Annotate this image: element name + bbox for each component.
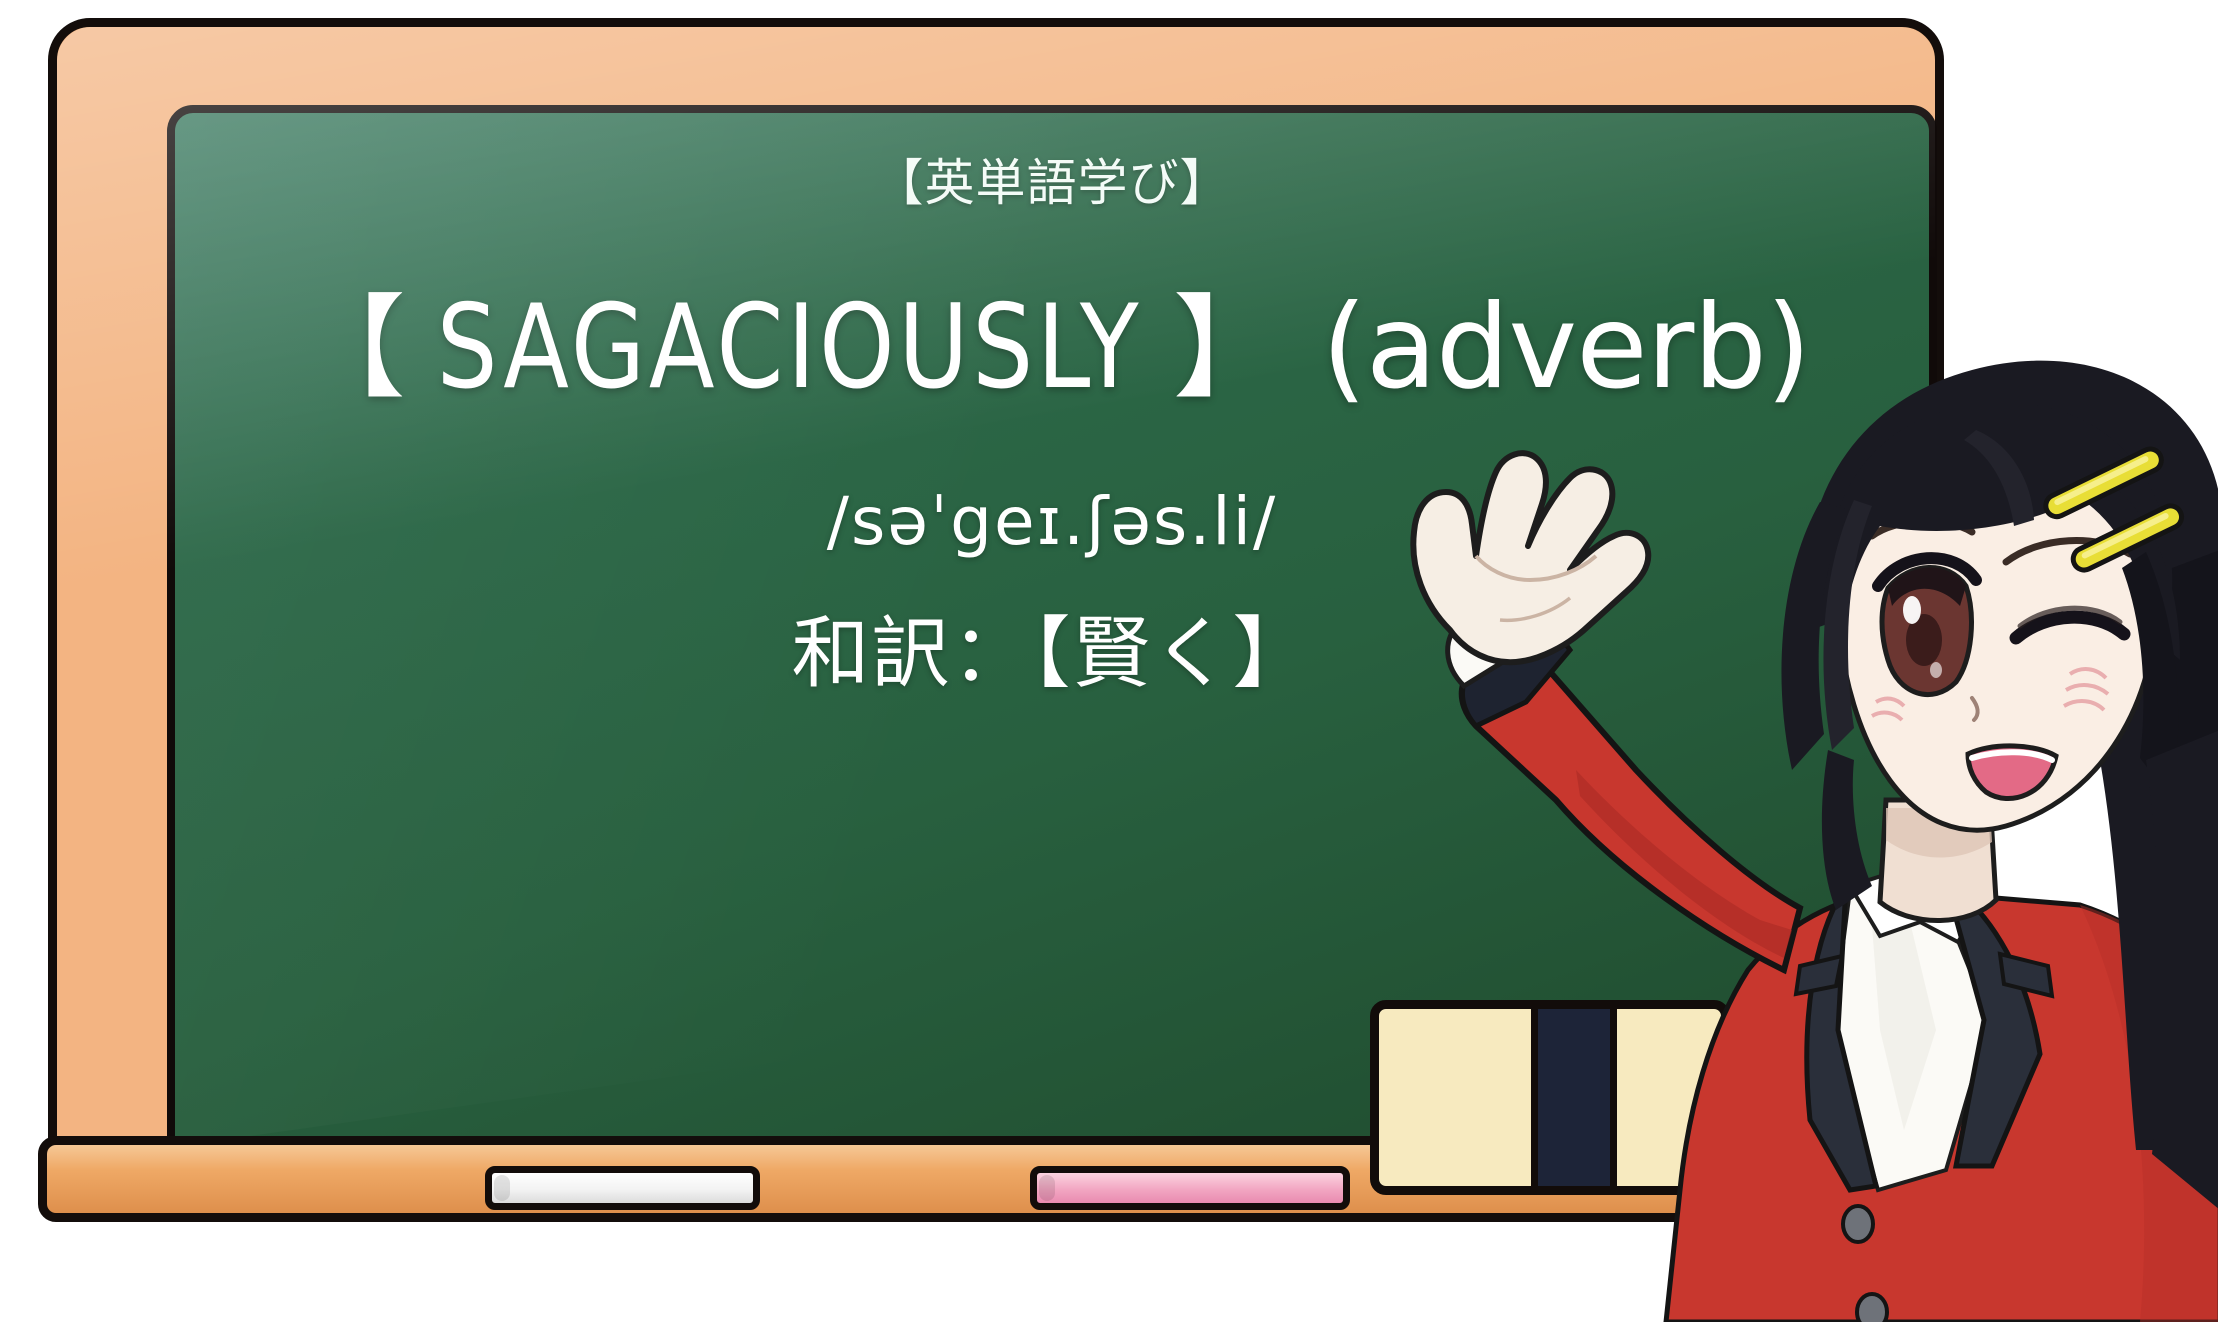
- part-of-speech: (adverb): [1322, 280, 1811, 415]
- headword: SAGACIOUSLY: [437, 283, 1143, 413]
- headline-label: 【英単語学び】: [175, 143, 1929, 215]
- flashcard-canvas: 【英単語学び】 【SAGACIOUSLY】 (adverb) /səˈgeɪ.ʃ…: [0, 0, 2218, 1322]
- winking-eye: [2006, 541, 2130, 638]
- eraser-band: [1531, 1005, 1617, 1195]
- headword-line: 【SAGACIOUSLY】 (adverb): [175, 283, 1929, 413]
- hairclip-icon: [2042, 445, 2185, 573]
- blazer-buttons: [1843, 1206, 1887, 1322]
- chalkboard-eraser-icon[interactable]: [1370, 1000, 1730, 1195]
- close-bracket: 】: [1173, 284, 1285, 414]
- mouth: [1968, 746, 2056, 799]
- japanese-translation: 和訳：【賢く】: [175, 591, 1929, 703]
- ipa-pronunciation: /səˈgeɪ.ʃəs.li/: [175, 483, 1929, 560]
- open-bracket: 【: [294, 284, 406, 414]
- nose: [1972, 698, 1978, 720]
- pink-chalk-icon[interactable]: [1030, 1166, 1350, 1210]
- white-chalk-icon[interactable]: [485, 1166, 760, 1210]
